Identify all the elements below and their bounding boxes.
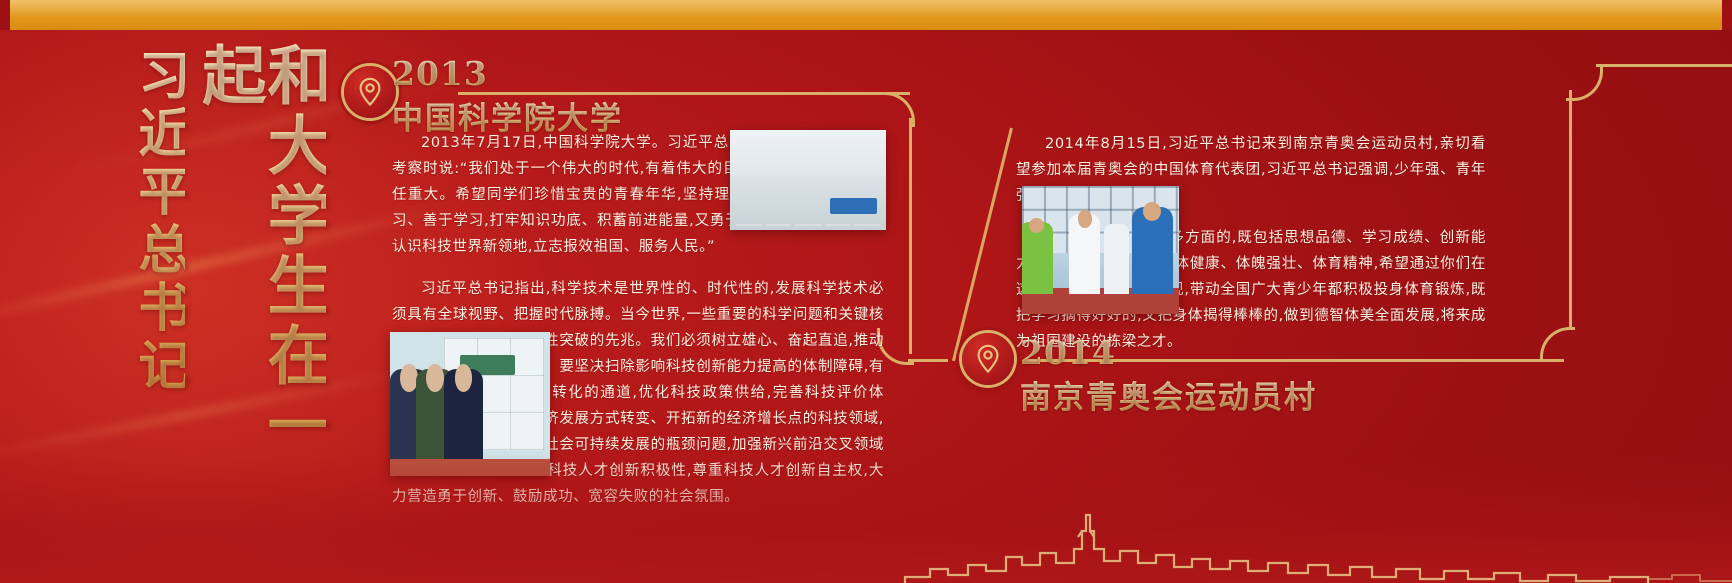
timeline-corner-far-right: [1566, 64, 1603, 101]
page-title: 和大学生在一起 习近平总书记: [132, 42, 326, 532]
top-bar-right-cap: [1722, 0, 1732, 30]
top-bar-left-cap: [0, 0, 10, 30]
timeline-corner-top-right: [880, 92, 915, 127]
timeline-path-right-vertical: [1569, 90, 1572, 330]
location-pin-icon: [344, 66, 396, 118]
timeline-path-vertical: [909, 118, 912, 354]
timeline-path-far-right: [1596, 64, 1732, 67]
photo-2014-sport: [1022, 186, 1179, 314]
top-gold-bar-shine: [0, 0, 1732, 30]
title-line-right: 和大学生在一起: [195, 42, 326, 512]
photo-2013-lab: [730, 130, 886, 230]
poster-canvas: 和大学生在一起 习近平总书记 2013 中国科学院大学 2013年7月17日,中…: [0, 0, 1732, 583]
photo-2013-expo: [390, 332, 550, 476]
timeline-diagonal-connector: [952, 128, 1013, 362]
location-pin-icon: [962, 333, 1014, 385]
year-label-2013: 2013: [392, 54, 623, 93]
section-header-2014: 2014 南京青奥会运动员村: [1020, 333, 1317, 417]
venue-label-2014: 南京青奥会运动员村: [1020, 372, 1317, 417]
year-label-2014: 2014: [1020, 333, 1317, 372]
top-gold-bar: [0, 0, 1732, 30]
section-header-2013: 2013 中国科学院大学: [392, 54, 623, 138]
title-line-left: 习近平总书记: [132, 48, 185, 408]
timeline-path-mid: [908, 359, 948, 362]
timeline-corner-top-left: [1540, 327, 1575, 362]
